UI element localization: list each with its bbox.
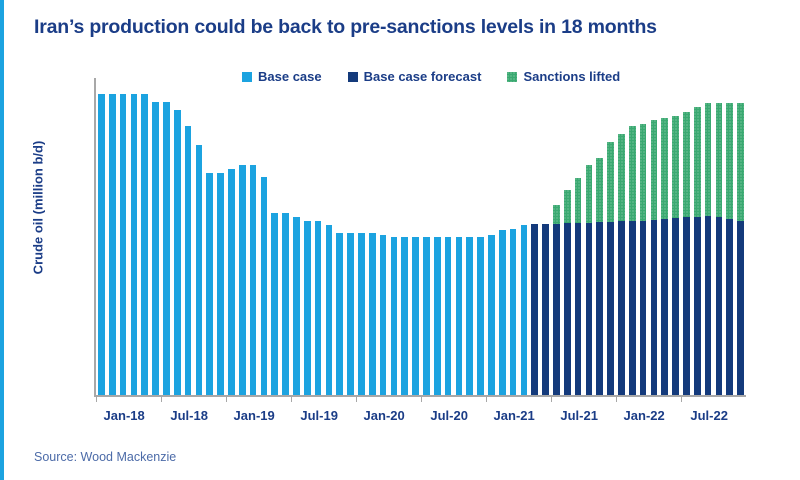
x-tick-mark: [681, 395, 682, 402]
bar-segment-base-case: [466, 237, 473, 396]
bar-column[interactable]: [499, 230, 506, 395]
x-tick-label: Jan-19: [234, 408, 275, 423]
bar-column[interactable]: [196, 145, 203, 395]
bar-column[interactable]: [271, 213, 278, 395]
bar-segment-base-case-forecast: [640, 221, 647, 395]
bar-column[interactable]: [391, 237, 398, 396]
bar-segment-base-case: [336, 233, 343, 395]
bar-segment-base-case: [152, 102, 159, 395]
bar-segment-sanctions-lifted: [575, 178, 582, 223]
x-tick-mark: [226, 395, 227, 402]
bar-column[interactable]: [640, 124, 647, 395]
bar-segment-base-case: [412, 237, 419, 395]
bar-column[interactable]: [326, 225, 333, 395]
bar-segment-base-case: [488, 235, 495, 395]
bar-column[interactable]: [206, 173, 213, 395]
bar-column[interactable]: [304, 221, 311, 395]
bar-column[interactable]: [705, 103, 712, 395]
x-tick-label: Jul-21: [560, 408, 598, 423]
bar-column[interactable]: [434, 237, 441, 396]
bar-column[interactable]: [315, 221, 322, 395]
bar-segment-sanctions-lifted: [683, 112, 690, 217]
bar-segment-base-case: [271, 213, 278, 395]
bar-segment-base-case-forecast: [607, 222, 614, 395]
bar-column[interactable]: [239, 165, 246, 395]
bar-segment-base-case: [185, 126, 192, 395]
x-tick-mark: [486, 395, 487, 402]
bar-column[interactable]: [369, 233, 376, 395]
bar-segment-base-case: [521, 225, 528, 395]
bar-column[interactable]: [152, 102, 159, 395]
bar-segment-sanctions-lifted: [553, 205, 560, 224]
bar-column[interactable]: [542, 224, 549, 395]
bar-segment-base-case-forecast: [661, 219, 668, 395]
bar-column[interactable]: [575, 178, 582, 395]
bar-column[interactable]: [336, 233, 343, 395]
bar-segment-base-case: [261, 177, 268, 395]
bar-segment-base-case: [98, 94, 105, 395]
bar-column[interactable]: [423, 237, 430, 395]
plot-area: 0.00.51.01.52.02.53.03.54.0 Jan-18Jul-18…: [96, 78, 746, 395]
bar-column[interactable]: [564, 190, 571, 395]
bar-column[interactable]: [672, 116, 679, 395]
bar-segment-base-case: [477, 237, 484, 396]
bar-column[interactable]: [141, 94, 148, 395]
bar-column[interactable]: [109, 94, 116, 395]
bar-segment-base-case-forecast: [531, 224, 538, 395]
y-axis-title: Crude oil (million b/d): [31, 78, 46, 338]
bar-segment-base-case: [250, 165, 257, 395]
bar-segment-base-case: [347, 233, 354, 395]
bar-column[interactable]: [694, 107, 701, 395]
bar-segment-base-case-forecast: [575, 223, 582, 395]
bar-column[interactable]: [412, 237, 419, 395]
bar-column[interactable]: [445, 237, 452, 396]
bar-segment-base-case: [282, 213, 289, 395]
x-axis-line: [94, 395, 746, 397]
bar-segment-base-case: [380, 235, 387, 395]
x-tick-label: Jan-20: [364, 408, 405, 423]
bar-segment-base-case: [131, 94, 138, 395]
bar-segment-base-case: [217, 173, 224, 395]
x-tick-label: Jul-18: [170, 408, 208, 423]
bar-segment-base-case-forecast: [672, 218, 679, 395]
source-caption: Source: Wood Mackenzie: [34, 450, 176, 464]
bar-column[interactable]: [586, 165, 593, 395]
bar-column[interactable]: [98, 94, 105, 395]
bar-segment-base-case: [369, 233, 376, 395]
bar-segment-base-case: [423, 237, 430, 395]
bar-segment-sanctions-lifted: [607, 142, 614, 222]
bar-segment-sanctions-lifted: [640, 124, 647, 221]
bar-segment-base-case-forecast: [586, 223, 593, 395]
bar-segment-base-case: [141, 94, 148, 395]
bar-segment-base-case: [499, 230, 506, 395]
bar-segment-base-case: [304, 221, 311, 395]
bar-segment-base-case: [391, 237, 398, 396]
bar-segment-base-case-forecast: [542, 224, 549, 395]
bar-segment-base-case-forecast: [651, 220, 658, 395]
bar-column[interactable]: [477, 237, 484, 396]
bar-column[interactable]: [261, 177, 268, 395]
bar-segment-sanctions-lifted: [672, 116, 679, 218]
bar-column[interactable]: [531, 224, 538, 395]
bar-column[interactable]: [466, 237, 473, 396]
bar-segment-base-case-forecast: [629, 221, 636, 395]
bar-column[interactable]: [737, 103, 744, 395]
bar-segment-sanctions-lifted: [705, 103, 712, 216]
x-tick-label: Jul-22: [690, 408, 728, 423]
bar-column[interactable]: [488, 235, 495, 395]
bar-column[interactable]: [131, 94, 138, 395]
bar-segment-base-case: [358, 233, 365, 395]
bar-column[interactable]: [651, 120, 658, 395]
bar-segment-sanctions-lifted: [737, 103, 744, 221]
chart-title: Iran’s production could be back to pre-s…: [34, 16, 784, 39]
bar-segment-sanctions-lifted: [618, 134, 625, 222]
x-tick-label: Jan-18: [104, 408, 145, 423]
bar-segment-base-case: [163, 102, 170, 395]
bar-segment-base-case-forecast: [683, 217, 690, 395]
x-tick-label: Jul-19: [300, 408, 338, 423]
bar-segment-sanctions-lifted: [564, 190, 571, 223]
x-tick-label: Jan-22: [624, 408, 665, 423]
x-tick-mark: [551, 395, 552, 402]
bar-segment-sanctions-lifted: [586, 165, 593, 223]
bar-segment-base-case: [445, 237, 452, 396]
bar-column[interactable]: [174, 110, 181, 395]
bar-column[interactable]: [607, 142, 614, 395]
bar-column[interactable]: [358, 233, 365, 395]
bar-segment-base-case: [326, 225, 333, 395]
bar-column[interactable]: [228, 169, 235, 395]
x-tick-mark: [421, 395, 422, 402]
bar-segment-base-case-forecast: [596, 222, 603, 395]
bar-segment-base-case-forecast: [564, 223, 571, 395]
bar-segment-base-case: [401, 237, 408, 395]
bar-column[interactable]: [726, 103, 733, 395]
bar-column[interactable]: [716, 103, 723, 395]
bar-column[interactable]: [521, 225, 528, 395]
bar-segment-sanctions-lifted: [694, 107, 701, 217]
x-tick-mark: [96, 395, 97, 402]
x-tick-label: Jan-21: [494, 408, 535, 423]
bar-column[interactable]: [401, 237, 408, 395]
bar-segment-sanctions-lifted: [716, 103, 723, 218]
bar-column[interactable]: [629, 126, 636, 395]
bar-segment-base-case: [228, 169, 235, 395]
bar-segment-base-case: [109, 94, 116, 395]
bar-segment-base-case-forecast: [737, 221, 744, 395]
bar-column[interactable]: [661, 118, 668, 395]
bar-column[interactable]: [282, 213, 289, 395]
chart-card: Iran’s production could be back to pre-s…: [0, 0, 800, 480]
x-tick-mark: [291, 395, 292, 402]
bar-series-container: [96, 78, 746, 395]
bar-column[interactable]: [250, 165, 257, 395]
bar-segment-base-case: [239, 165, 246, 395]
bar-column[interactable]: [347, 233, 354, 395]
bar-segment-base-case-forecast: [726, 219, 733, 395]
bar-segment-base-case-forecast: [716, 217, 723, 395]
bar-segment-base-case-forecast: [618, 221, 625, 395]
bar-segment-base-case: [120, 94, 127, 395]
bar-segment-base-case-forecast: [694, 217, 701, 395]
bar-segment-base-case: [434, 237, 441, 396]
bar-segment-base-case: [174, 110, 181, 395]
bar-segment-base-case: [293, 217, 300, 395]
x-tick-label: Jul-20: [430, 408, 468, 423]
x-tick-mark: [616, 395, 617, 402]
bar-segment-base-case: [510, 229, 517, 395]
bar-column[interactable]: [120, 94, 127, 395]
bar-segment-sanctions-lifted: [629, 126, 636, 222]
bar-column[interactable]: [510, 229, 517, 395]
bar-segment-base-case-forecast: [553, 224, 560, 395]
bar-column[interactable]: [618, 134, 625, 396]
bar-column[interactable]: [380, 235, 387, 395]
bar-segment-sanctions-lifted: [596, 158, 603, 222]
x-tick-mark: [356, 395, 357, 402]
bar-column[interactable]: [553, 205, 560, 395]
bar-segment-sanctions-lifted: [651, 120, 658, 220]
bar-column[interactable]: [683, 112, 690, 395]
bar-segment-base-case: [196, 145, 203, 395]
bar-column[interactable]: [185, 126, 192, 395]
bar-segment-sanctions-lifted: [661, 118, 668, 219]
bar-segment-base-case: [315, 221, 322, 395]
bar-column[interactable]: [163, 102, 170, 395]
bar-column[interactable]: [293, 217, 300, 395]
bar-segment-base-case-forecast: [705, 216, 712, 395]
bar-segment-base-case: [456, 237, 463, 396]
bar-segment-sanctions-lifted: [726, 103, 733, 219]
bar-column[interactable]: [596, 158, 603, 395]
bar-column[interactable]: [217, 173, 224, 395]
bar-column[interactable]: [456, 237, 463, 396]
x-tick-mark: [161, 395, 162, 402]
bar-segment-base-case: [206, 173, 213, 395]
